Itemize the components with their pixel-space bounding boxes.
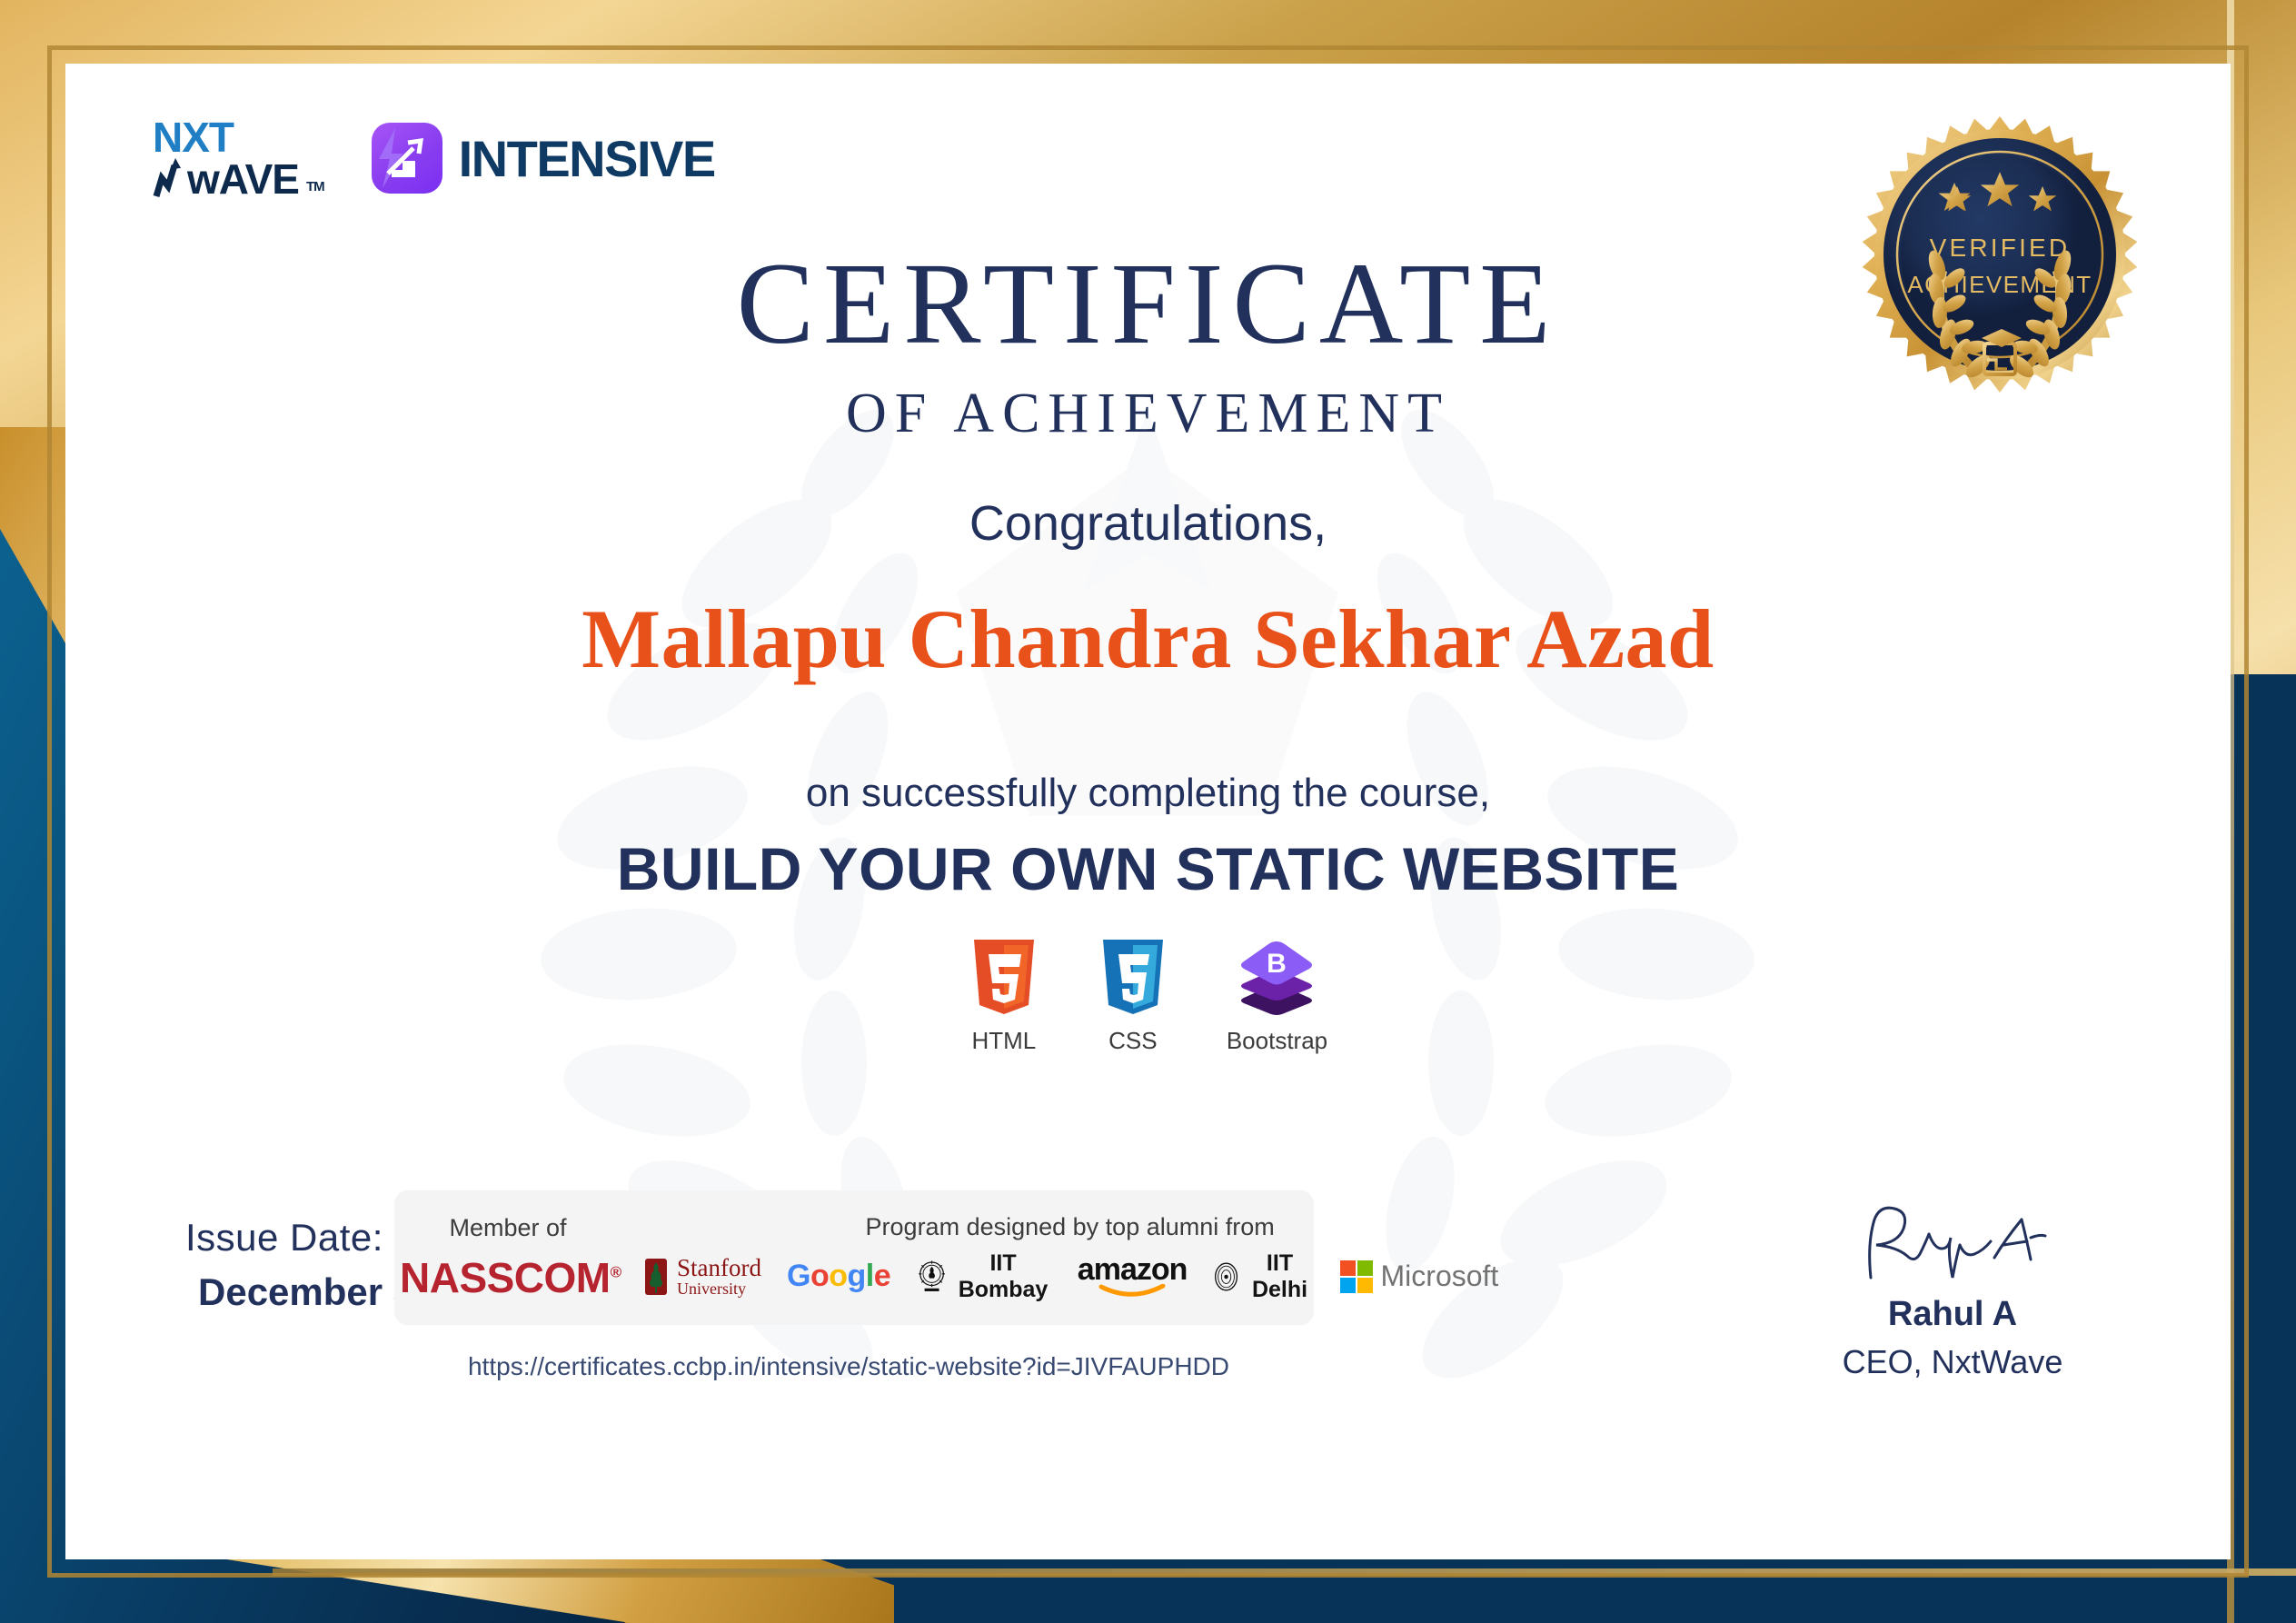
certificate-page: NXT wAVE TM — [0, 0, 2296, 1623]
signatory-name: Rahul A — [1762, 1295, 2143, 1334]
course-name: BUILD YOUR OWN STATIC WEBSITE — [65, 834, 2231, 903]
alumni-block: Program designed by top alumni from Stan… — [641, 1213, 1498, 1303]
lightning-stairs-icon — [372, 123, 442, 194]
trademark-text: TM — [306, 181, 324, 194]
tech-label-bootstrap: Bootstrap — [1227, 1027, 1327, 1055]
signature-block: Rahul A CEO, NxtWave — [1762, 1201, 2143, 1381]
bootstrap-icon: B — [1235, 936, 1318, 1020]
iit-bombay-logo: IIT Bombay — [916, 1250, 1052, 1303]
member-label: Member of — [400, 1214, 616, 1242]
alumni-label: Program designed by top alumni from — [641, 1213, 1498, 1241]
css3-icon — [1098, 936, 1168, 1020]
stanford-text: Stanford University — [677, 1256, 761, 1297]
stanford-logo: Stanford University — [641, 1253, 761, 1300]
google-letter-g: G — [787, 1259, 810, 1293]
member-block: Member of NASSCOM® — [400, 1214, 616, 1302]
signature-icon — [1853, 1201, 2052, 1285]
intensive-badge-icon — [372, 123, 442, 194]
google-letter-o1: o — [810, 1259, 829, 1293]
nxtwave-logo-nxt: NXT — [153, 118, 234, 156]
tech-item-bootstrap: B Bootstrap — [1227, 936, 1327, 1055]
google-letter-o2: o — [829, 1259, 847, 1293]
stanford-line1: Stanford — [677, 1256, 761, 1280]
nxtwave-logo-wave: wAVE TM — [153, 156, 324, 198]
google-logo: Google — [787, 1259, 890, 1294]
iit-bombay-crest-icon — [916, 1253, 948, 1300]
recipient-name: Mallapu Chandra Sekhar Azad — [65, 591, 2231, 687]
iit-delhi-crest-icon — [1212, 1253, 1240, 1300]
amazon-logo: amazon — [1078, 1256, 1188, 1297]
nasscom-text: NASSCOM — [400, 1254, 611, 1301]
nxtwave-nxt-text: NXT — [153, 114, 234, 161]
google-letter-e: e — [874, 1259, 890, 1293]
course-lead-text: on successfully completing the course, — [65, 771, 2231, 816]
certificate-title: CERTIFICATE — [65, 245, 2231, 362]
intensive-logo: INTENSIVE — [372, 123, 715, 194]
certificate-card: NXT wAVE TM — [65, 64, 2231, 1559]
google-letter-g2: g — [848, 1259, 866, 1293]
stanford-tree-icon — [641, 1253, 671, 1300]
congratulations-text: Congratulations, — [65, 495, 2231, 552]
partners-bar: Member of NASSCOM® Program designed by t… — [394, 1190, 1314, 1325]
header-logos: NXT wAVE TM — [153, 118, 715, 198]
tech-label-html: HTML — [971, 1027, 1036, 1055]
google-letter-l: l — [866, 1259, 874, 1293]
iit-bombay-label: IIT Bombay — [954, 1250, 1052, 1303]
microsoft-logo: Microsoft — [1338, 1259, 1499, 1295]
alumni-logo-row: Stanford University Google — [641, 1250, 1498, 1303]
stanford-line2: University — [677, 1280, 746, 1297]
nasscom-registered-mark: ® — [611, 1263, 621, 1280]
amazon-wordmark: amazon — [1078, 1256, 1188, 1284]
signatory-role: CEO, NxtWave — [1762, 1343, 2143, 1381]
nasscom-logo: NASSCOM® — [400, 1253, 616, 1302]
html5-icon — [969, 936, 1039, 1020]
verification-url[interactable]: https://certificates.ccbp.in/intensive/s… — [394, 1352, 1303, 1381]
tech-item-html: HTML — [969, 936, 1039, 1055]
svg-text:B: B — [1267, 949, 1287, 979]
nxtwave-wave-text: wAVE — [187, 160, 299, 198]
microsoft-squares-icon — [1338, 1259, 1375, 1295]
nxtwave-logo: NXT wAVE TM — [153, 118, 324, 198]
gold-divider — [231, 720, 2065, 728]
tech-stack: HTML CSS B Bootstrap — [65, 936, 2231, 1055]
iit-delhi-logo: IIT Delhi — [1212, 1250, 1312, 1303]
amazon-smile-icon — [1098, 1284, 1166, 1297]
tech-item-css: CSS — [1098, 936, 1168, 1055]
microsoft-label: Microsoft — [1381, 1260, 1499, 1293]
certificate-subtitle: OF ACHIEVEMENT — [65, 382, 2231, 446]
intensive-wordmark: INTENSIVE — [459, 129, 715, 188]
tech-label-css: CSS — [1108, 1027, 1157, 1055]
wave-arrow-icon — [153, 156, 185, 198]
iit-delhi-label: IIT Delhi — [1247, 1250, 1313, 1303]
